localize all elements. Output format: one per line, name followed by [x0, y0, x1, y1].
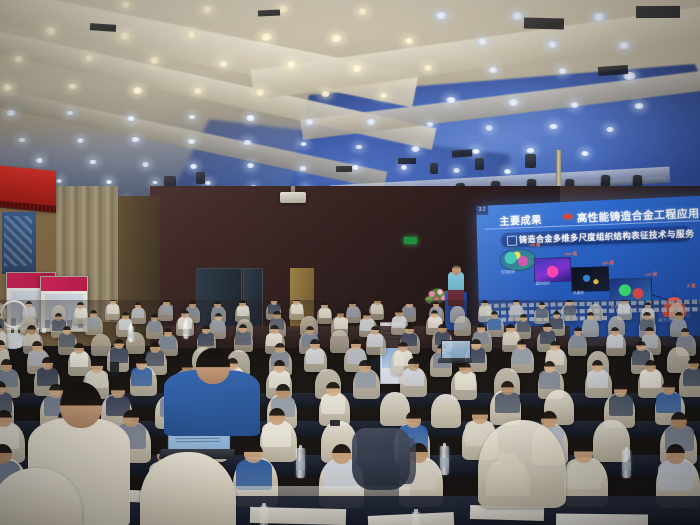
audience-person-torso: [539, 370, 560, 389]
audience-person-head: [275, 343, 285, 354]
audience-person-head: [276, 384, 289, 398]
ceiling-downlight: [120, 1, 131, 8]
audience-person-head: [405, 325, 414, 334]
ceiling-downlight: [44, 27, 57, 35]
water-bottle: [183, 322, 189, 339]
audience-person-head: [42, 357, 53, 369]
audience-person-head: [26, 301, 33, 308]
audience-person-head: [472, 407, 488, 424]
audience-person-torso: [658, 460, 694, 491]
ceiling-downlight: [68, 84, 77, 90]
ceiling-downlight: [186, 31, 198, 38]
audience-person-head: [611, 327, 620, 336]
audience-chair: [454, 316, 471, 336]
audience-person-head: [520, 314, 528, 322]
audience-person-head: [74, 343, 84, 354]
audience-person-torso: [583, 319, 597, 331]
ceiling-vent: [398, 158, 416, 164]
ceiling-downlight: [2, 84, 13, 91]
ceiling-downlight: [321, 91, 331, 97]
audience-person-torso: [75, 307, 87, 318]
ceiling-downlight: [352, 165, 360, 170]
audience-person-head: [244, 443, 263, 464]
audience-person-torso: [211, 320, 225, 332]
ceiling-vent: [598, 65, 629, 76]
audience-person-torso: [161, 304, 173, 315]
ceiling-downlight: [511, 12, 524, 20]
audience-person-head: [214, 301, 221, 308]
ceiling-downlight: [404, 38, 414, 44]
audience-person-head: [566, 300, 573, 306]
audience-person-head: [574, 442, 593, 463]
audience-person-head: [55, 313, 63, 321]
ceiling-downlight: [66, 111, 74, 116]
audience-person-head: [189, 301, 196, 308]
ceiling-speaker: [196, 172, 205, 184]
audience-person-torso: [334, 317, 348, 329]
audience-person-torso: [640, 369, 661, 388]
audience-person-head: [406, 411, 422, 428]
audience-person-head: [506, 324, 515, 333]
audience-person-head: [91, 360, 102, 372]
paper-handout: [556, 514, 648, 525]
audience-person-head: [351, 339, 361, 350]
ceiling-downlight: [299, 166, 307, 171]
backpack-strap: [398, 438, 416, 484]
audience-person-head: [349, 301, 356, 308]
audience-person-head: [666, 444, 685, 465]
audience-person-head: [27, 325, 36, 334]
ceiling-downlight: [255, 89, 265, 96]
audience-person-torso: [70, 351, 88, 367]
ceiling-vent: [336, 166, 352, 172]
ceiling-downlight: [131, 137, 139, 142]
foreground-chair: [478, 420, 566, 508]
audience-person-head: [306, 326, 315, 335]
audience-person-head: [122, 312, 130, 320]
ceiling-downlight: [193, 88, 203, 94]
audience-person-torso: [566, 458, 602, 489]
audience-person-torso: [198, 332, 214, 346]
audience-person-torso: [403, 368, 424, 387]
audience-chair: [330, 330, 350, 352]
ceiling-downlight: [149, 57, 160, 64]
audience-person-head: [513, 300, 520, 306]
ceiling-downlight: [13, 56, 23, 62]
ceiling-downlight: [446, 97, 455, 103]
audience-person-head: [164, 328, 173, 337]
audience-person-head: [539, 302, 546, 309]
audience-person-head: [123, 410, 139, 427]
audience-person-torso: [160, 335, 176, 349]
ceiling-downlight: [190, 164, 197, 168]
front-person-head: [196, 348, 230, 384]
audience-person-head: [77, 302, 84, 309]
ceiling-downlight: [634, 103, 644, 109]
audience-person-head: [481, 300, 488, 307]
ceiling-vent: [452, 149, 472, 157]
ceiling-downlight: [411, 146, 420, 152]
audience-person-torso: [37, 367, 58, 386]
audience-person-head: [431, 310, 439, 318]
audience-person-head: [662, 381, 675, 395]
audience-person-head: [471, 339, 481, 350]
audience-person-head: [332, 444, 351, 465]
audience-person-head: [32, 341, 42, 352]
audience-person-torso: [609, 394, 634, 415]
audience-person-torso: [392, 316, 406, 328]
audience-person-torso: [488, 318, 502, 330]
ceiling-downlight: [36, 158, 44, 163]
audience-person-torso: [656, 392, 681, 413]
audience-person-torso: [495, 392, 520, 413]
ceiling-downlight: [488, 67, 499, 74]
audience-person-head: [0, 340, 5, 351]
audience-person-head: [321, 302, 328, 309]
audience-person-head: [501, 381, 514, 395]
ceiling-speaker: [525, 154, 536, 168]
ceiling-downlight: [581, 151, 589, 156]
audience-person-head: [645, 327, 654, 336]
poster-header-bar: [41, 277, 87, 291]
audience-person-torso: [371, 303, 383, 314]
ceiling-downlight: [485, 125, 494, 131]
blue-wall-panel-pattern: [4, 216, 32, 266]
ceiling-vent: [636, 6, 680, 18]
ceiling-speaker: [475, 158, 484, 170]
audience-person-head: [553, 311, 561, 319]
audience-person-head: [0, 410, 12, 427]
ceiling-downlight: [453, 168, 460, 172]
audience-person-head: [671, 412, 687, 429]
ceiling-downlight: [18, 138, 25, 143]
ceiling-downlight: [305, 119, 314, 125]
ceiling-vent: [524, 17, 564, 29]
audience-person-head: [363, 312, 371, 320]
water-bottle: [440, 446, 449, 475]
audience-person-torso: [132, 308, 144, 319]
audience-chair: [431, 394, 462, 429]
audience-person-head: [293, 300, 300, 305]
ceiling-downlight: [247, 163, 255, 168]
mobile-phone: [372, 358, 380, 370]
ceiling-downlight: [89, 160, 97, 165]
audience-person-torso: [347, 306, 359, 317]
paper-handout: [250, 507, 346, 525]
ceiling-downlight: [435, 12, 447, 19]
audience-person-head: [681, 328, 690, 337]
ceiling-downlight: [549, 124, 557, 129]
audience-person-torso: [570, 335, 586, 349]
audience-person-head: [270, 325, 279, 334]
ceiling-downlight: [6, 110, 16, 116]
audience-person-head: [587, 312, 595, 320]
audience-person-head: [310, 339, 320, 350]
open-laptop: [438, 340, 472, 368]
foreground-person-head: [60, 382, 102, 428]
water-bottle: [296, 448, 305, 478]
audience-person-torso: [479, 305, 491, 316]
audience-person-head: [406, 301, 413, 308]
audience-person-head: [675, 312, 683, 320]
ceiling-downlight: [202, 6, 213, 13]
ceiling-downlight: [401, 165, 408, 169]
audience-person-torso: [510, 305, 522, 316]
audience-person-head: [239, 324, 248, 333]
ceiling-downlight: [504, 169, 511, 174]
water-bottle: [128, 326, 134, 342]
audience-person-torso: [148, 320, 162, 332]
audience-person-head: [136, 358, 147, 370]
audience-person-torso: [683, 368, 700, 387]
conference-hall-photo: 3.2 主要成果 高性能铸造合金工程应用 铸造合金多维多尺度组织结构表征技术与服…: [0, 0, 700, 525]
audience-person-head: [239, 300, 246, 307]
laptop-keyboard-base: [438, 358, 473, 363]
ceiling-downlight: [357, 8, 369, 15]
audience-person-head: [544, 361, 555, 373]
audience-person-head: [408, 358, 419, 370]
audience-seating-area: [0, 300, 700, 525]
audience-person-torso: [306, 348, 324, 364]
exit-sign-icon: [404, 237, 417, 244]
audience-person-head: [621, 300, 628, 305]
audience-person-head: [643, 312, 651, 320]
audience-person-torso: [262, 422, 291, 448]
audience-person-head: [150, 342, 160, 353]
audience-person-torso: [59, 333, 75, 347]
ceiling-downlight: [260, 33, 273, 41]
audience-person-torso: [512, 348, 530, 364]
ceiling-downlight: [77, 138, 85, 143]
audience-person-head: [374, 300, 381, 305]
mobile-phone: [330, 420, 340, 426]
audience-person-head: [269, 408, 285, 425]
audience-person-torso: [367, 333, 383, 347]
audience-person-head: [359, 360, 370, 372]
audience-person-head: [135, 302, 142, 309]
audience-person-head: [438, 324, 447, 333]
speaker-head: [452, 265, 461, 275]
audience-person-torso: [107, 304, 119, 315]
water-bottle: [622, 450, 631, 478]
audience-person-torso: [564, 305, 576, 316]
audience-person-head: [163, 300, 170, 306]
ceiling-speaker: [430, 163, 438, 174]
ceiling-downlight: [106, 180, 112, 184]
mobile-phone: [110, 362, 119, 376]
ceiling-downlight: [606, 127, 614, 132]
audience-person-torso: [587, 370, 608, 389]
audience-person-head: [151, 314, 159, 322]
ceiling-downlight: [56, 179, 62, 183]
ceiling-downlight: [330, 35, 342, 43]
audience-person-head: [398, 342, 408, 353]
ceiling-downlight: [132, 87, 144, 94]
audience-person-torso: [131, 367, 152, 386]
audience-person-head: [543, 323, 552, 332]
ceiling-downlight: [246, 115, 255, 121]
audience-person-torso: [110, 347, 128, 363]
ceiling-vent: [258, 10, 280, 17]
audience-person-head: [477, 323, 486, 332]
audience-person-torso: [455, 371, 476, 390]
ceiling-projector: [280, 192, 306, 203]
audience-person-torso: [235, 331, 251, 345]
audience-person-head: [274, 360, 285, 372]
audience-person-torso: [87, 317, 101, 329]
audience-person-head: [271, 300, 278, 305]
ceiling-downlight: [127, 116, 135, 121]
audience-person-head: [111, 384, 124, 398]
audience-person-torso: [146, 350, 164, 366]
audience-person-torso: [291, 303, 303, 314]
ceiling-downlight: [188, 115, 196, 120]
audience-person-torso: [321, 393, 346, 414]
audience-person-torso: [355, 370, 376, 389]
ceiling-downlight: [142, 162, 150, 167]
audience-person-torso: [319, 308, 331, 319]
audience-person-torso: [607, 334, 623, 348]
audience-person-head: [645, 360, 656, 372]
audience-person-torso: [517, 320, 531, 332]
audience-person-head: [202, 325, 211, 334]
audience-person-head: [326, 382, 339, 396]
ceiling-downlight: [618, 42, 630, 49]
audience-person-head: [1, 359, 12, 371]
